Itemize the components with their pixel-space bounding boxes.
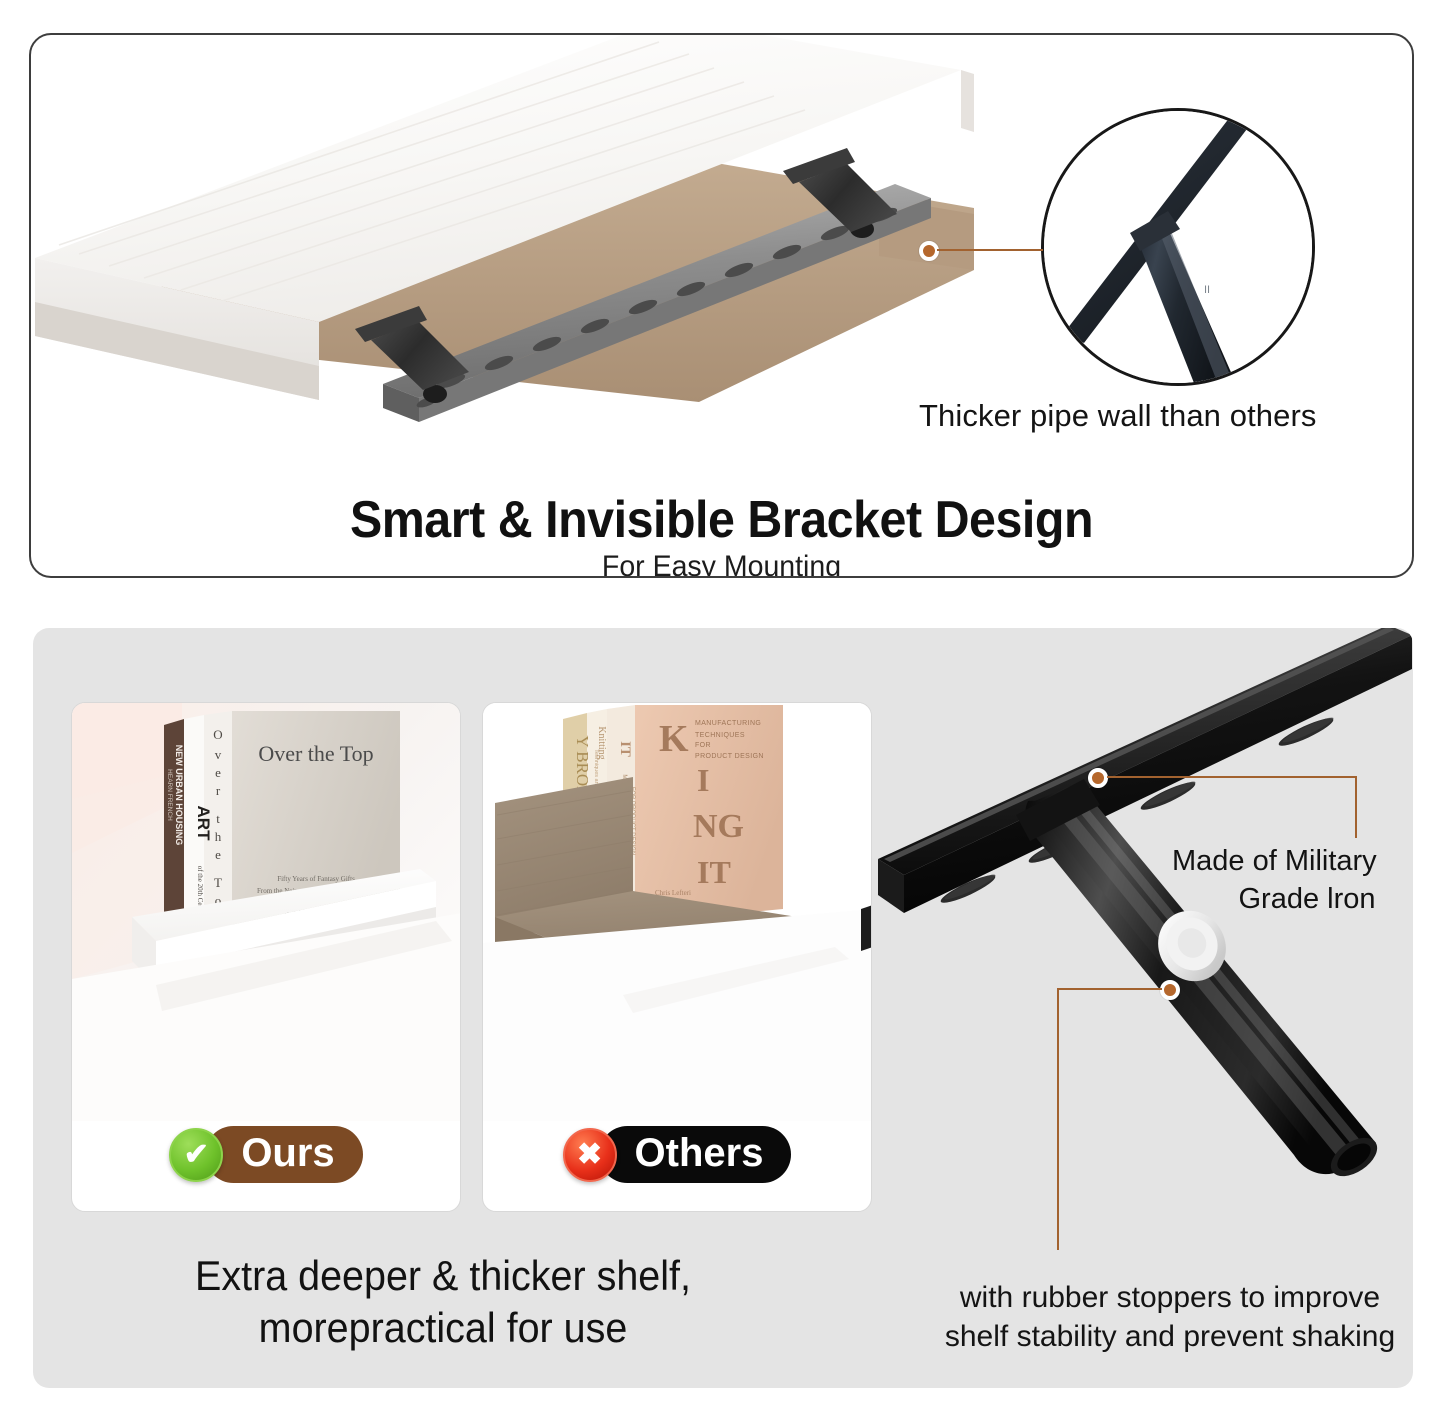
svg-text:I: I	[697, 762, 709, 798]
callout-label-thicker-pipe: Thicker pipe wall than others	[919, 398, 1399, 434]
svg-text:IT: IT	[697, 854, 731, 890]
caption-right: with rubber stoppers to improve shelf st…	[900, 1278, 1440, 1356]
ours-shelf-books-graphic: Over the Top Fifty Years of Fantasy Gift…	[72, 703, 460, 1121]
callout-leader-military-v	[1355, 776, 1357, 838]
svg-text:r: r	[216, 783, 221, 798]
military-line-1: Made of Military	[1172, 843, 1442, 881]
check-icon: ✔	[169, 1128, 223, 1182]
caption-left-line-2: morepractical for use	[95, 1302, 791, 1354]
svg-text:Over the Top: Over the Top	[258, 741, 373, 766]
shelf-3d-graphic	[29, 33, 989, 452]
svg-text:NG: NG	[693, 808, 744, 845]
svg-text:II: II	[1204, 284, 1210, 296]
magnifier-detail-circle: II	[1041, 108, 1315, 386]
svg-text:t: t	[216, 811, 220, 826]
svg-text:K: K	[659, 718, 689, 760]
caption-right-line-2: shelf stability and prevent shaking	[900, 1317, 1440, 1356]
callout-label-military-grade: Made of Military Grade lron	[1172, 843, 1442, 918]
badge-ours: ✔ Ours	[72, 1126, 460, 1183]
caption-left: Extra deeper & thicker shelf, morepracti…	[95, 1250, 791, 1354]
shelf-bracket-illustration	[29, 33, 989, 452]
svg-text:NEW URBAN HOUSING: NEW URBAN HOUSING	[174, 745, 184, 846]
callout-dot-pipe	[919, 241, 939, 261]
callout-leader-rubber-h	[1057, 988, 1162, 990]
callout-leader-military-h	[1107, 776, 1357, 778]
svg-text:IT: IT	[617, 741, 633, 757]
svg-text:e: e	[215, 847, 221, 862]
svg-text:v: v	[215, 747, 222, 762]
callout-leader-pipe	[937, 249, 1043, 251]
svg-text:HEARN FRENCH: HEARN FRENCH	[166, 769, 173, 821]
svg-text:MANUFACTURING: MANUFACTURING	[695, 720, 761, 727]
badge-label-ours: Ours	[205, 1126, 362, 1183]
bracket-detail-illustration	[878, 628, 1413, 1263]
comparison-card-others: K I NG IT MANUFACTURING TECHNIQUES FOR P…	[482, 702, 872, 1212]
scene-ours: Over the Top Fifty Years of Fantasy Gift…	[72, 703, 460, 1121]
badge-label-others: Others	[599, 1126, 792, 1183]
svg-text:TECHNIQUES: TECHNIQUES	[695, 732, 745, 739]
black-bracket-graphic	[878, 628, 1413, 1263]
svg-text:h: h	[215, 829, 222, 844]
caption-left-line-1: Extra deeper & thicker shelf,	[95, 1250, 791, 1302]
cross-icon: ✖	[563, 1128, 617, 1182]
svg-text:FOR: FOR	[695, 742, 711, 749]
svg-text:ART: ART	[194, 806, 213, 842]
top-feature-panel: II Thicker pipe wall than others Smart &…	[29, 33, 1414, 578]
page-headline: Smart & Invisible Bracket Design	[79, 490, 1363, 550]
badge-others: ✖ Others	[483, 1126, 871, 1183]
magnified-pipe-graphic: II	[1044, 111, 1312, 383]
caption-right-line-1: with rubber stoppers to improve	[900, 1278, 1440, 1317]
page-subheadline: For Easy Mounting	[66, 550, 1378, 578]
svg-text:O: O	[213, 727, 222, 742]
svg-text:e: e	[215, 765, 221, 780]
svg-text:PRODUCT DESIGN: PRODUCT DESIGN	[695, 753, 764, 760]
callout-dot-military-grade	[1088, 768, 1108, 788]
callout-dot-rubber-stopper	[1160, 980, 1180, 1000]
military-line-2: Grade lron	[1172, 881, 1442, 919]
svg-text:T: T	[214, 875, 222, 890]
others-shelf-books-graphic: K I NG IT MANUFACTURING TECHNIQUES FOR P…	[483, 703, 871, 1121]
callout-leader-rubber-v	[1057, 988, 1059, 1250]
comparison-card-ours: Over the Top Fifty Years of Fantasy Gift…	[71, 702, 461, 1212]
scene-others: K I NG IT MANUFACTURING TECHNIQUES FOR P…	[483, 703, 871, 1121]
